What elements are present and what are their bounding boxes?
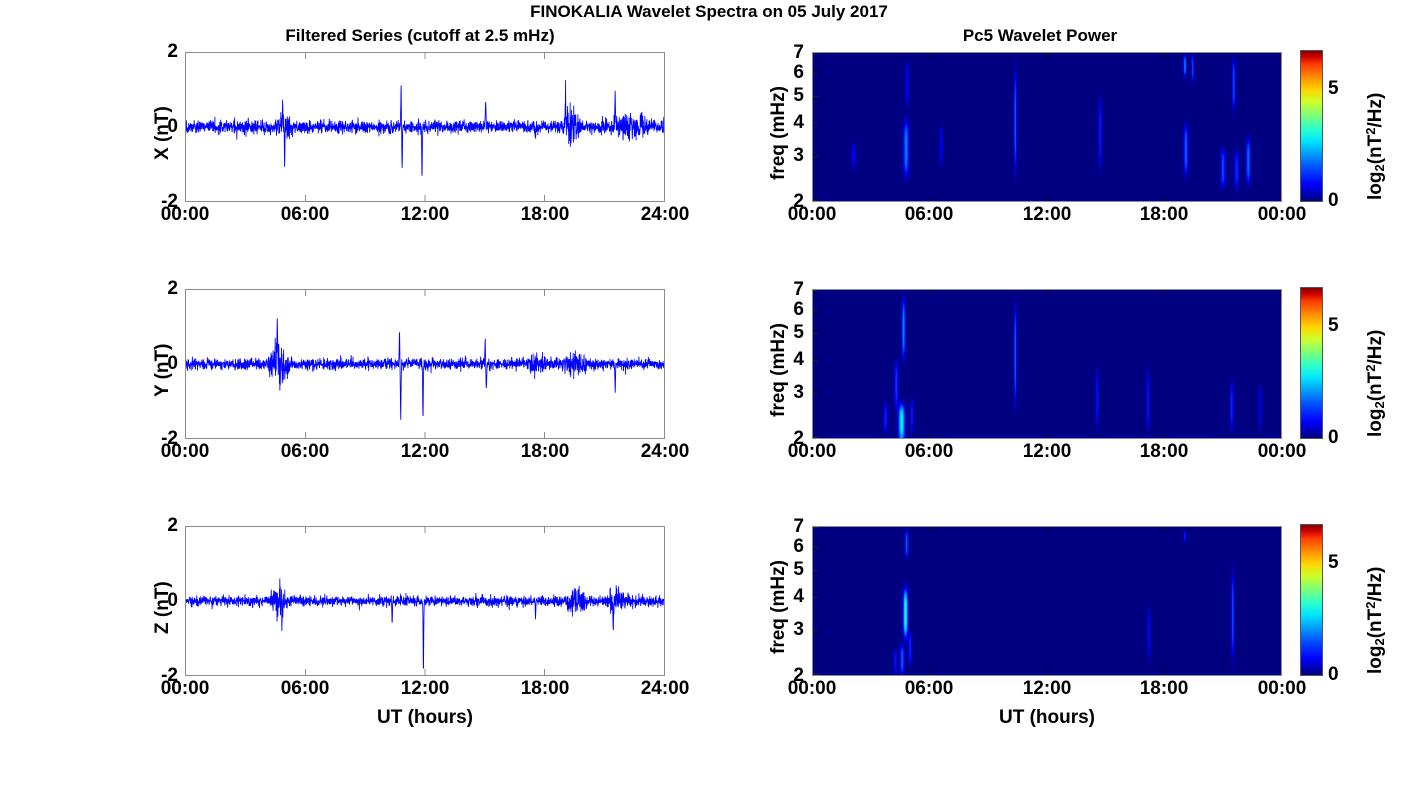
timeseries-panel-z [185, 526, 665, 676]
right-column-title: Pc5 Wavelet Power [795, 26, 1285, 46]
colorbar-z [1300, 524, 1323, 676]
freq-tick-x-5: 5 [774, 85, 804, 107]
freq-tick-z-4: 4 [774, 586, 804, 608]
spectrogram-image-x [813, 53, 1281, 201]
sp-x-tick-y-1: 06:00 [881, 441, 977, 463]
colorbar-tick-z-high: 5 [1328, 552, 1339, 574]
x-tick-y-2: 12:00 [377, 441, 473, 463]
freq-tick-y-7: 7 [774, 279, 804, 301]
x-tick-x-1: 06:00 [257, 204, 353, 226]
sp-x-tick-x-3: 18:00 [1116, 204, 1212, 226]
freq-tick-z-5: 5 [774, 559, 804, 581]
x-axis-label-left: UT (hours) [325, 707, 525, 729]
x-tick-y-0: 00:00 [137, 441, 233, 463]
x-axis-label-right: UT (hours) [947, 707, 1147, 729]
timeseries-trace-y [186, 290, 664, 438]
colorbar-tick-z-low: 0 [1328, 664, 1339, 686]
spectrogram-panel-x [812, 52, 1282, 202]
x-tick-z-2: 12:00 [377, 678, 473, 700]
freq-tick-y-4: 4 [774, 349, 804, 371]
freq-tick-x-3: 3 [774, 145, 804, 167]
x-tick-y-3: 18:00 [497, 441, 593, 463]
x-tick-z-0: 00:00 [137, 678, 233, 700]
timeseries-panel-y [185, 289, 665, 439]
spectrogram-panel-y [812, 289, 1282, 439]
sp-x-tick-z-1: 06:00 [881, 678, 977, 700]
y-tick-z-top: 2 [150, 515, 178, 537]
spectrogram-image-z [813, 527, 1281, 675]
x-tick-y-1: 06:00 [257, 441, 353, 463]
colorbar-label-y: log2(nT2/Hz) [1363, 330, 1387, 437]
freq-tick-x-4: 4 [774, 112, 804, 134]
sp-x-tick-y-0: 00:00 [764, 441, 860, 463]
freq-tick-z-6: 6 [774, 536, 804, 558]
colorbar-label-z: log2(nT2/Hz) [1363, 567, 1387, 674]
y-tick-y-mid: 0 [150, 353, 178, 375]
colorbar-tick-y-low: 0 [1328, 427, 1339, 449]
colorbar-tick-x-low: 0 [1328, 190, 1339, 212]
sp-x-tick-y-4: 00:00 [1234, 441, 1330, 463]
colorbar-x [1300, 50, 1323, 202]
x-tick-x-2: 12:00 [377, 204, 473, 226]
x-tick-x-3: 18:00 [497, 204, 593, 226]
x-tick-x-0: 00:00 [137, 204, 233, 226]
freq-tick-y-3: 3 [774, 382, 804, 404]
freq-tick-x-6: 6 [774, 62, 804, 84]
y-tick-z-mid: 0 [150, 590, 178, 612]
freq-tick-y-5: 5 [774, 322, 804, 344]
figure-canvas: FINOKALIA Wavelet Spectra on 05 July 201… [0, 0, 1418, 788]
sp-x-tick-y-3: 18:00 [1116, 441, 1212, 463]
sp-x-tick-z-0: 00:00 [764, 678, 860, 700]
sp-x-tick-x-4: 00:00 [1234, 204, 1330, 226]
freq-tick-z-3: 3 [774, 619, 804, 641]
colorbar-tick-y-high: 5 [1328, 315, 1339, 337]
freq-tick-x-7: 7 [774, 42, 804, 64]
left-column-title: Filtered Series (cutoff at 2.5 mHz) [155, 26, 685, 46]
sp-x-tick-z-2: 12:00 [999, 678, 1095, 700]
freq-tick-y-6: 6 [774, 299, 804, 321]
colorbar-tick-x-high: 5 [1328, 78, 1339, 100]
timeseries-trace-x [186, 53, 664, 201]
timeseries-panel-x [185, 52, 665, 202]
sp-x-tick-y-2: 12:00 [999, 441, 1095, 463]
x-tick-z-1: 06:00 [257, 678, 353, 700]
colorbar-y [1300, 287, 1323, 439]
spectrogram-panel-z [812, 526, 1282, 676]
page-title: FINOKALIA Wavelet Spectra on 05 July 201… [509, 2, 909, 22]
freq-tick-z-7: 7 [774, 516, 804, 538]
y-tick-y-top: 2 [150, 278, 178, 300]
spectrogram-image-y [813, 290, 1281, 438]
x-tick-z-3: 18:00 [497, 678, 593, 700]
sp-x-tick-z-4: 00:00 [1234, 678, 1330, 700]
colorbar-label-x: log2(nT2/Hz) [1363, 93, 1387, 200]
y-tick-x-top: 2 [150, 41, 178, 63]
y-tick-x-mid: 0 [150, 116, 178, 138]
sp-x-tick-x-1: 06:00 [881, 204, 977, 226]
timeseries-trace-z [186, 527, 664, 675]
sp-x-tick-x-2: 12:00 [999, 204, 1095, 226]
sp-x-tick-z-3: 18:00 [1116, 678, 1212, 700]
sp-x-tick-x-0: 00:00 [764, 204, 860, 226]
x-tick-x-4: 24:00 [617, 204, 713, 226]
x-tick-y-4: 24:00 [617, 441, 713, 463]
x-tick-z-4: 24:00 [617, 678, 713, 700]
